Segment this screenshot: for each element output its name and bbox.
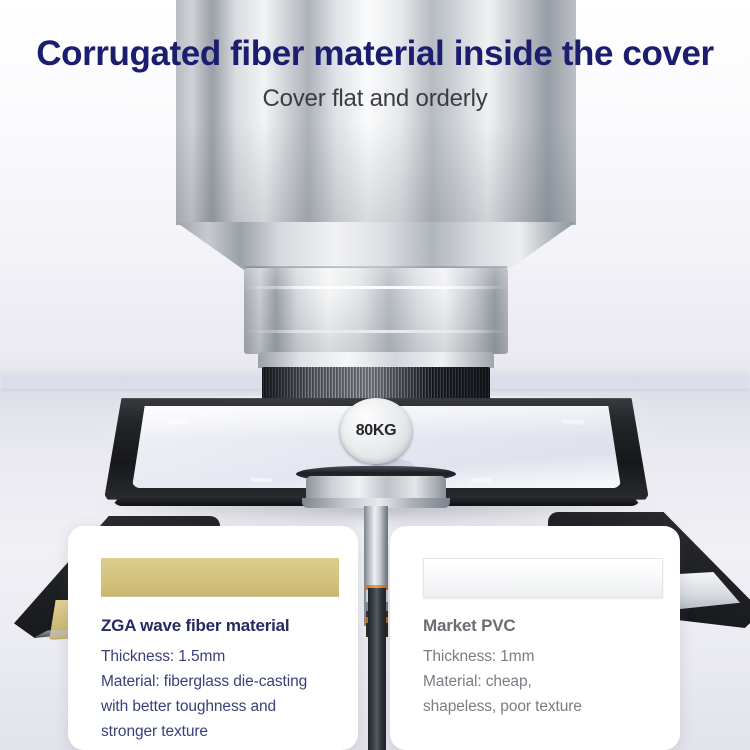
card-line: shapeless, poor texture [423,694,663,719]
press-rod-lower [368,588,386,750]
card-body: Thickness: 1.5mm Material: fiberglass di… [101,644,341,744]
weight-badge: 80KG [340,398,412,464]
info-card-zga: ZGA wave fiber material Thickness: 1.5mm… [68,526,358,750]
card-line: Thickness: 1.5mm [101,644,341,669]
page-subheadline: Cover flat and orderly [0,85,750,113]
page-headline: Corrugated fiber material inside the cov… [0,34,750,74]
card-line: with better toughness and [101,694,341,719]
card-line: Thickness: 1mm [423,644,663,669]
card-line: stronger texture [101,719,341,744]
weight-badge-label: 80KG [356,422,397,440]
material-swatch-gold [101,558,339,596]
card-body: Thickness: 1mm Material: cheap, shapeles… [423,644,663,719]
case-glint [470,478,492,482]
card-line: Material: cheap, [423,669,663,694]
banner-stage: 80KG Corrugated fiber material inside th… [0,0,750,750]
card-title: ZGA wave fiber material [101,616,289,636]
info-card-pvc: Market PVC Thickness: 1mm Material: chea… [390,526,680,750]
material-swatch-white [423,558,663,598]
card-line: Material: fiberglass die-casting [101,669,341,694]
case-glint [250,478,272,482]
card-title: Market PVC [423,616,515,636]
